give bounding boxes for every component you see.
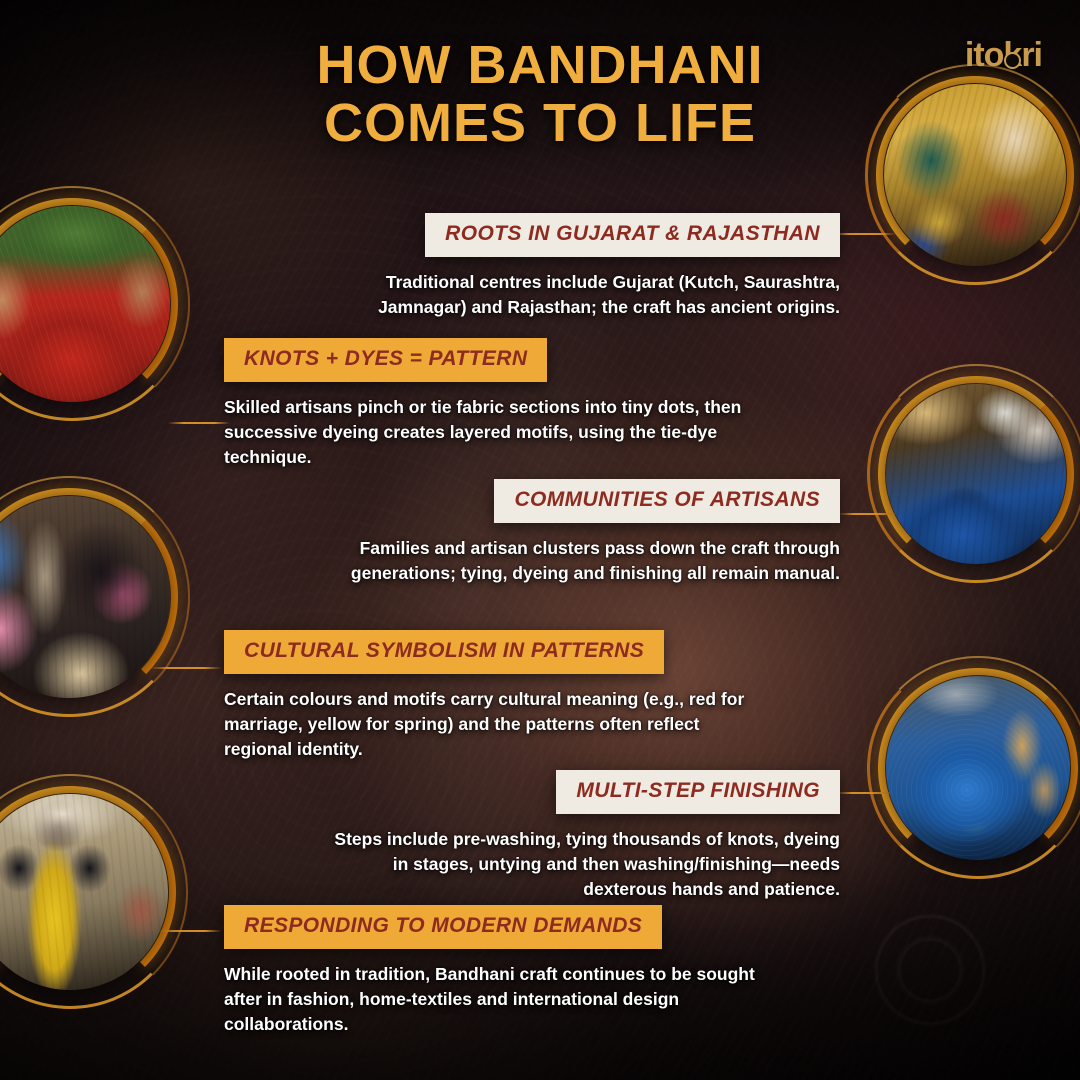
photo-women-artisans-tying [0, 496, 170, 698]
section-heading-banner[interactable]: KNOTS + DYES = PATTERN [224, 338, 547, 382]
section-communities-of-artisans: COMMUNITIES OF ARTISANS Families and art… [300, 479, 840, 586]
section-heading-banner[interactable]: COMMUNITIES OF ARTISANS [494, 479, 840, 523]
section-body-text: Traditional centres include Gujarat (Kut… [300, 270, 840, 320]
section-heading-banner[interactable]: CULTURAL SYMBOLISM IN PATTERNS [224, 630, 664, 674]
section-heading-banner[interactable]: MULTI-STEP FINISHING [556, 770, 840, 814]
section-roots-in-gujarat-rajasthan: ROOTS IN GUJARAT & RAJASTHAN Traditional… [300, 213, 840, 320]
page-title-line-1: HOW BANDHANI [0, 36, 1080, 94]
section-multi-step-finishing: MULTI-STEP FINISHING Steps include pre-w… [300, 770, 840, 902]
photo-dyer-blue-tub [886, 384, 1066, 564]
infographic-poster: HOW BANDHANI COMES TO LIFE itokri ROOTS … [0, 0, 1080, 1080]
connector-line-2 [168, 422, 230, 424]
section-knots-dyes-pattern: KNOTS + DYES = PATTERN Skilled artisans … [224, 338, 754, 470]
section-body-text: Certain colours and motifs carry cultura… [224, 687, 764, 762]
section-heading-banner[interactable]: ROOTS IN GUJARAT & RAJASTHAN [425, 213, 840, 257]
photo-indigo-vat-dipping [886, 676, 1070, 860]
background-motif [840, 880, 1020, 1060]
brand-logo-dot-icon [1004, 52, 1021, 69]
page-title: HOW BANDHANI COMES TO LIFE [0, 36, 1080, 153]
section-body-text: While rooted in tradition, Bandhani craf… [224, 962, 780, 1037]
section-heading-banner[interactable]: RESPONDING TO MODERN DEMANDS [224, 905, 662, 949]
section-body-text: Families and artisan clusters pass down … [300, 536, 840, 586]
section-body-text: Steps include pre-washing, tying thousan… [300, 827, 840, 902]
page-title-line-2: COMES TO LIFE [0, 94, 1080, 152]
section-cultural-symbolism-in-patterns: CULTURAL SYMBOLISM IN PATTERNS Certain c… [224, 630, 784, 762]
photo-hands-tying-red-fabric [0, 206, 170, 402]
photo-artisan-yellow-fabric [0, 794, 168, 990]
brand-logo[interactable]: itokri [965, 38, 1042, 72]
brand-logo-text: itokri [965, 38, 1042, 72]
section-responding-to-modern-demands: RESPONDING TO MODERN DEMANDS While roote… [224, 905, 794, 1037]
section-body-text: Skilled artisans pinch or tie fabric sec… [224, 395, 744, 470]
